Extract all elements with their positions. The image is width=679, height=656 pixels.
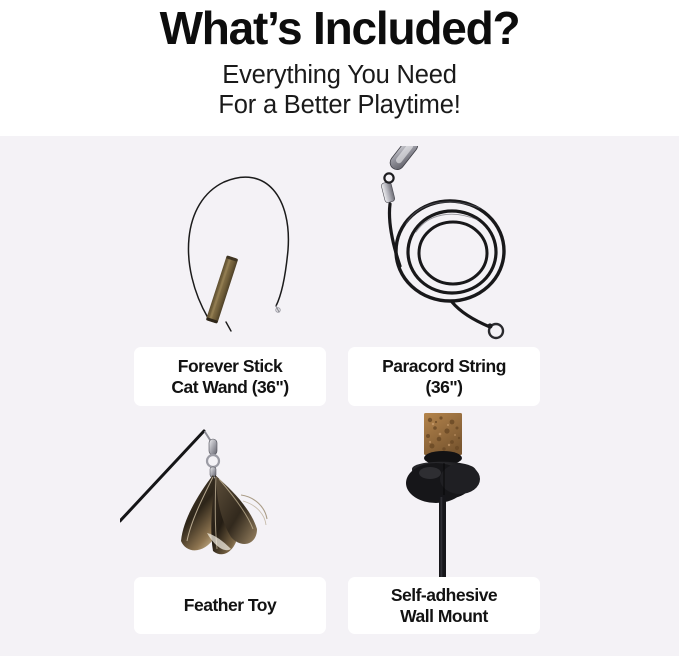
product-label-card-wand: Forever Stick Cat Wand (36"): [134, 347, 326, 406]
product-cell-paracord: Paracord String (36"): [340, 146, 560, 411]
page-title: What’s Included?: [160, 2, 520, 55]
product-cell-mount: Self-adhesive Wall Mount: [340, 411, 560, 651]
feather-toy-photo: [120, 411, 340, 586]
header-banner: What’s Included? Everything You Need For…: [0, 0, 679, 136]
product-label-card-feather: Feather Toy: [134, 577, 326, 634]
product-label-text: Self-adhesive Wall Mount: [391, 585, 497, 626]
page-subtitle: Everything You Need For a Better Playtim…: [218, 60, 460, 120]
product-label-card-paracord: Paracord String (36"): [348, 347, 540, 406]
wall-mount-photo: [340, 411, 560, 586]
product-label-text: Paracord String (36"): [382, 356, 506, 397]
product-label-text: Feather Toy: [184, 595, 276, 616]
product-label-text: Forever Stick Cat Wand (36"): [171, 356, 288, 397]
product-label-card-mount: Self-adhesive Wall Mount: [348, 577, 540, 634]
product-cell-wand: Forever Stick Cat Wand (36"): [120, 146, 340, 411]
product-gallery: Forever Stick Cat Wand (36"): [0, 136, 679, 656]
cat-wand-photo: [120, 146, 340, 346]
product-cell-feather: Feather Toy: [120, 411, 340, 651]
paracord-string-photo: [340, 146, 560, 346]
